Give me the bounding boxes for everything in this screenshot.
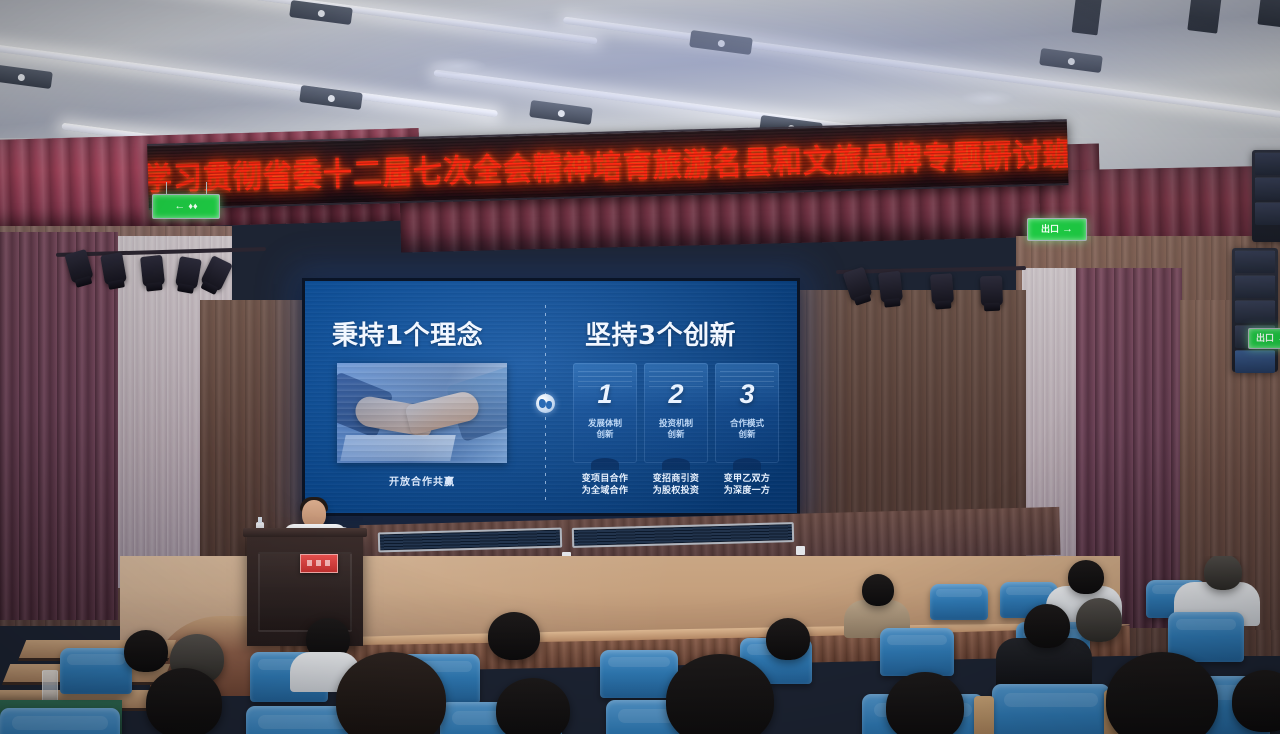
card-line1: 投资机制: [659, 419, 693, 430]
ceiling: [0, 0, 1280, 150]
card-number: 2: [668, 381, 683, 408]
subcap-line1: 变甲乙双方: [715, 473, 779, 485]
attendee-head: [862, 574, 894, 606]
running-man-icon: ♦♦: [188, 202, 197, 211]
seat-armrest: [974, 696, 994, 734]
seat: [880, 628, 954, 676]
subcap-line1: 变招商引资: [644, 473, 708, 485]
attendee-head: [1076, 598, 1122, 642]
audience-seating: [0, 556, 1280, 734]
attendee-head: [1068, 560, 1104, 594]
attendee-head: [496, 678, 570, 734]
speaker-array-right: [1232, 248, 1278, 372]
exit-arrow-icon: →: [1062, 224, 1073, 235]
projection-screen: 秉持1个理念 坚持3个创新 开放合作共赢 1 发展体制 创新: [302, 278, 800, 516]
exit-sign-far-right: 出口 →: [1248, 328, 1280, 349]
attendee-head: [488, 612, 540, 660]
slide-caption-left: 开放合作共赢: [337, 473, 507, 488]
card-line1: 合作模式: [730, 419, 764, 430]
attendee-head: [146, 668, 222, 734]
auditorium-photo: 学习贯彻省委十二届七次全会精神培育旅游名县和文旅品牌专题研讨班 ← ♦♦ 出口: [0, 0, 1280, 734]
innovation-cards: 1 发展体制 创新 2 投资机制 创新 3: [573, 363, 779, 463]
subcap-line1: 变项目合作: [573, 473, 637, 485]
exit-sign-right-label: 出口: [1041, 225, 1059, 234]
card-line1: 发展体制: [588, 419, 622, 430]
wall-plate: [796, 546, 805, 555]
stage-light: [878, 271, 903, 303]
stage-light: [930, 273, 954, 304]
card-line2: 创新: [659, 430, 693, 441]
innovation-card-3: 3 合作模式 创新: [715, 363, 779, 463]
innovation-card-1: 1 发展体制 创新: [573, 363, 637, 463]
speaker-array-far-right: [1252, 150, 1280, 242]
stage-light: [980, 276, 1003, 307]
seat: [930, 584, 988, 620]
innovation-card-2: 2 投资机制 创新: [644, 363, 708, 463]
card-line2: 创新: [588, 430, 622, 441]
seat: [992, 684, 1110, 734]
attendee-head: [886, 672, 964, 734]
attendee-head: [766, 618, 810, 660]
subcap-line2: 为深度一方: [715, 485, 779, 497]
attendee-head: [1024, 604, 1070, 648]
handshake-photo: [337, 363, 507, 463]
exit-arrow-icon: ←: [174, 201, 185, 212]
slide-heading-right: 坚持3个创新: [585, 315, 736, 352]
downlight: [430, 58, 486, 74]
attendee-head: [1106, 652, 1218, 734]
seat: [0, 708, 120, 734]
card-subcaption-3: 变甲乙双方 为深度一方: [715, 473, 779, 497]
subcap-line2: 为股权投资: [644, 485, 708, 497]
card-subcaption-2: 变招商引资 为股权投资: [644, 473, 708, 497]
downlight: [960, 90, 1016, 106]
attendee-head: [1204, 556, 1242, 590]
card-line2: 创新: [730, 430, 764, 441]
card-subcaption-1: 变项目合作 为全域合作: [573, 473, 637, 497]
stage-light: [140, 255, 165, 287]
exit-sign-left: ← ♦♦: [152, 194, 220, 219]
slide-heading-left: 秉持1个理念: [332, 315, 483, 352]
card-subcaptions: 变项目合作 为全域合作 变招商引资 为股权投资 变甲乙双方 为深度一方: [573, 473, 779, 497]
card-number: 3: [739, 381, 754, 408]
card-number: 1: [597, 381, 612, 408]
seat: [60, 648, 132, 694]
globe-icon: [536, 394, 555, 413]
exit-sign-right: 出口 →: [1027, 218, 1087, 241]
subcap-line2: 为全域合作: [573, 485, 637, 497]
attendee-head: [124, 630, 168, 672]
exit-sign-far-right-label: 出口: [1256, 334, 1274, 343]
